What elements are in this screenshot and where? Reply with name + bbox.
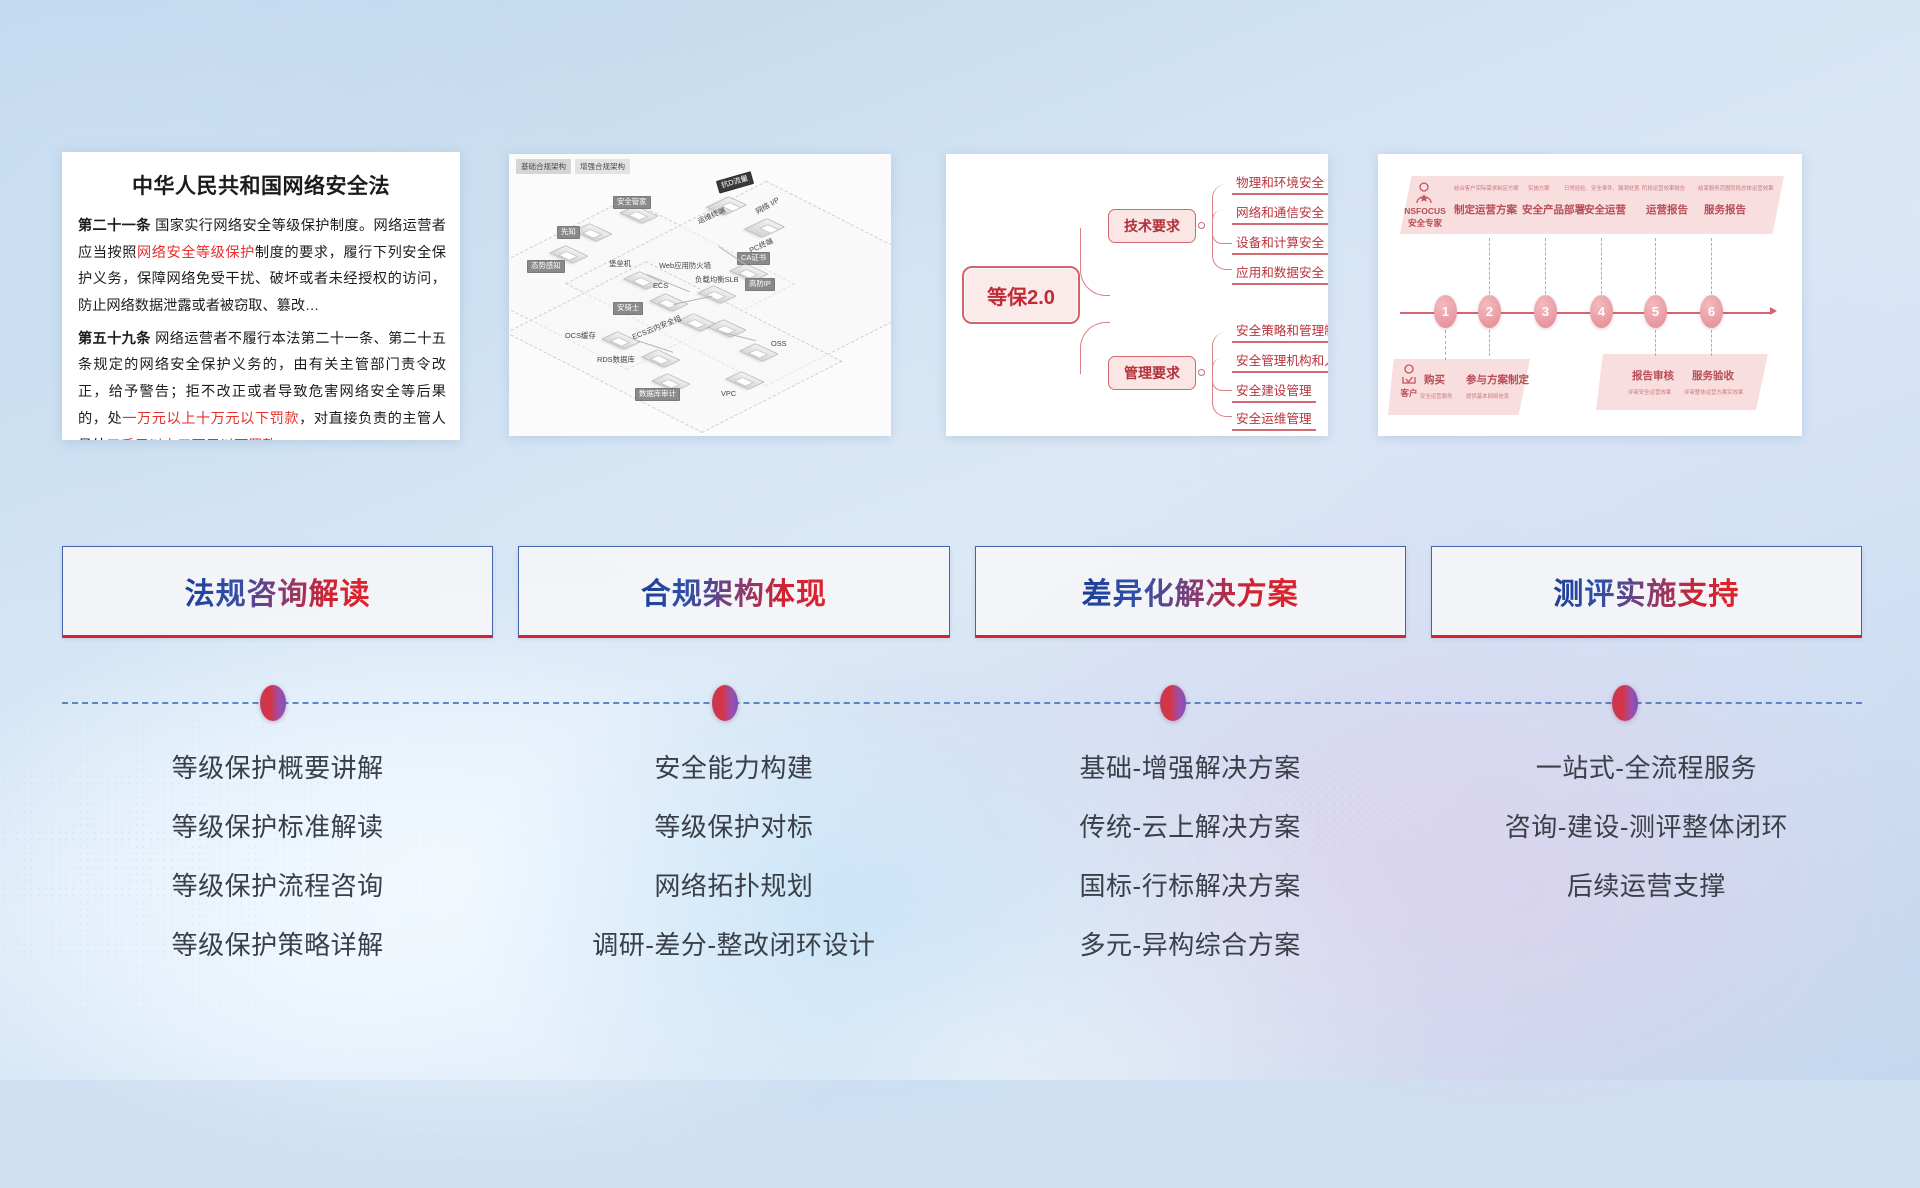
timeline-node-6[interactable]: 6 <box>1700 295 1723 328</box>
customer-label: 客户 <box>1396 388 1422 399</box>
customer-avatar-icon <box>1400 364 1418 386</box>
list-item: 等级保护策略详解 <box>172 925 384 962</box>
timeline-top-sub-2: 实施方案 <box>1528 184 1550 192</box>
service-lists-row: 等级保护概要讲解 等级保护标准解读 等级保护流程咨询 等级保护策略详解 安全能力… <box>62 740 1862 962</box>
architecture-diagram: 基础合规架构 增强合规架构 态势感知 先知 <box>509 154 891 436</box>
mindmap-leaf-device-compute: 设备和计算安全 <box>1232 232 1328 255</box>
mindmap-leaf-security-policy: 安全策略和管理制度 <box>1232 320 1328 343</box>
list-item: 安全能力构建 <box>654 748 813 785</box>
title-box-differentiated-solutions[interactable]: 差异化解决方案 <box>975 546 1406 638</box>
timeline-tick-6-bottom <box>1711 330 1712 356</box>
timeline-top-title-5: 服务报告 <box>1704 202 1746 217</box>
list-column-differentiated-solutions: 基础-增强解决方案 传统-云上解决方案 国标-行标解决方案 多元-异构综合方案 <box>975 740 1406 962</box>
mindmap-leaf-edge-t4 <box>1212 226 1232 270</box>
law-article-21: 第二十一条 国家实行网络安全等级保护制度。网络运营者应当按照网络安全等级保护制度… <box>78 213 446 320</box>
timeline-marker-2[interactable] <box>712 685 738 721</box>
card-dengbao-mindmap[interactable]: 等保2.0 技术要求 管理要求 物理和环境安全 网络和通信安全 设备和计算安全 … <box>946 154 1328 436</box>
mindmap-leaf-build-management: 安全建设管理 <box>1232 380 1316 403</box>
arch-label-database-audit: 数据库审计 <box>635 388 680 401</box>
tab-enhanced-architecture[interactable]: 增强合规架构 <box>575 159 630 174</box>
arch-label-bastion: 堡垒机 <box>609 260 631 269</box>
arch-label-oss: OSS <box>771 340 787 349</box>
timeline-bottom-title-2: 参与方案制定 <box>1466 372 1529 387</box>
provider-brand-role: 安全专家 <box>1404 218 1446 229</box>
timeline-bottom-title-6: 服务验收 <box>1692 368 1734 383</box>
arch-label-ocs-cache: OCS缓存 <box>565 332 596 341</box>
list-column-regulation-consulting: 等级保护概要讲解 等级保护标准解读 等级保护流程咨询 等级保护策略详解 <box>62 740 493 962</box>
timeline-axis-section <box>0 680 1920 730</box>
timeline-bottom-sub-1: 安全运营服务 <box>1420 392 1452 400</box>
section-titles-row: 法规咨询解读 合规架构体现 差异化解决方案 测评实施支持 <box>62 546 1862 638</box>
mindmap-edge-to-management <box>1080 322 1110 374</box>
arch-label-waf: Web应用防火墙 <box>659 262 711 271</box>
arch-label-high-defense-ip: 高防IP <box>745 278 775 291</box>
law-article-21-highlight: 网络安全等级保护 <box>137 245 255 261</box>
list-item: 等级保护概要讲解 <box>172 748 384 785</box>
mindmap-leaf-edge-m4 <box>1212 373 1232 417</box>
illustration-cards-row: 中华人民共和国网络安全法 第二十一条 国家实行网络安全等级保护制度。网络运营者应… <box>62 152 1862 442</box>
arch-label-xianzhi: 先知 <box>557 226 580 239</box>
timeline-dashed-line <box>62 702 1862 704</box>
title-label-assessment-support: 测评实施支持 <box>1553 569 1739 613</box>
list-item: 多元-异构综合方案 <box>1080 925 1301 962</box>
mindmap-leaf-org-personnel: 安全管理机构和人员 <box>1232 350 1328 373</box>
timeline-top-sub-4: 阶段运营效果报告 <box>1642 184 1685 192</box>
title-label-compliance-architecture: 合规架构体现 <box>641 569 827 613</box>
law-body: 第二十一条 国家实行网络安全等级保护制度。网络运营者应当按照网络安全等级保护制度… <box>62 213 460 440</box>
timeline-tick-5-bottom <box>1655 330 1656 356</box>
timeline-bottom-sub-2: 提供基本网络信息 <box>1466 392 1509 400</box>
timeline-node-3[interactable]: 3 <box>1534 295 1557 328</box>
timeline-node-5[interactable]: 5 <box>1644 295 1667 328</box>
list-item: 咨询-建设-测评整体闭环 <box>1505 807 1788 844</box>
list-item: 国标-行标解决方案 <box>1080 866 1301 903</box>
timeline-marker-4[interactable] <box>1612 685 1638 721</box>
title-label-differentiated-solutions: 差异化解决方案 <box>1082 569 1299 613</box>
list-item: 基础-增强解决方案 <box>1080 748 1301 785</box>
list-item: 等级保护标准解读 <box>172 807 384 844</box>
card-service-timeline[interactable]: NSFOCUS 安全专家 客户 结合客户实际需求制定方案 制定运营方案 实施方案… <box>1378 154 1802 436</box>
timeline-top-sub-1: 结合客户实际需求制定方案 <box>1454 184 1519 192</box>
timeline-band-customer-right <box>1596 354 1768 410</box>
title-box-assessment-support[interactable]: 测评实施支持 <box>1431 546 1862 638</box>
provider-brand-name: NSFOCUS <box>1404 206 1446 217</box>
timeline-marker-3[interactable] <box>1160 685 1186 721</box>
mindmap-leaf-physical-env: 物理和环境安全 <box>1232 172 1328 195</box>
mindmap-collapse-dot-management[interactable] <box>1198 369 1205 376</box>
timeline-axis-arrow <box>1770 307 1777 315</box>
list-item: 一站式-全流程服务 <box>1536 748 1757 785</box>
timeline-bottom-sub-5: 评审安全运营效果 <box>1628 388 1671 396</box>
law-title: 中华人民共和国网络安全法 <box>62 170 460 200</box>
law-article-59: 第五十九条 网络运营者不履行本法第二十一条、第二十五条规定的网络安全保护义务的，… <box>78 326 446 440</box>
list-item: 网络拓扑规划 <box>654 866 813 903</box>
timeline-tick-6-top <box>1711 238 1712 294</box>
arch-label-anqishi: 安骑士 <box>613 302 643 315</box>
timeline-top-title-3: 安全运营 <box>1584 202 1626 217</box>
mindmap-leaf-edge-t2 <box>1212 210 1232 226</box>
timeline-bottom-title-1: 购买 <box>1424 372 1445 387</box>
mindmap-root-node: 等保2.0 <box>962 266 1080 324</box>
timeline-top-title-1: 制定运营方案 <box>1454 202 1517 217</box>
architecture-tabs: 基础合规架构 增强合规架构 <box>516 159 630 174</box>
timeline-tick-5-top <box>1655 238 1656 294</box>
timeline-node-1[interactable]: 1 <box>1434 295 1457 328</box>
arch-label-rds-database: RDS数据库 <box>597 356 635 365</box>
mindmap: 等保2.0 技术要求 管理要求 物理和环境安全 网络和通信安全 设备和计算安全 … <box>946 154 1328 436</box>
timeline-top-title-2: 安全产品部署 <box>1522 202 1585 217</box>
law-article-59-label: 第五十九条 <box>78 331 151 347</box>
tab-basic-architecture[interactable]: 基础合规架构 <box>516 159 571 174</box>
mindmap-collapse-dot-technical[interactable] <box>1198 222 1205 229</box>
mindmap-branch-management: 管理要求 <box>1108 356 1196 390</box>
title-label-regulation-consulting: 法规咨询解读 <box>185 569 371 613</box>
law-article-59-highlight-2: 五千元以上五万元以下罚款。 <box>106 438 290 441</box>
law-article-21-label: 第二十一条 <box>78 218 151 234</box>
list-item: 调研-差分-整改闭环设计 <box>592 925 875 962</box>
title-box-regulation-consulting[interactable]: 法规咨询解读 <box>62 546 493 638</box>
timeline-tick-4-top <box>1601 238 1602 294</box>
timeline-marker-1[interactable] <box>260 685 286 721</box>
timeline-top-sub-5: 结束服务范围阶段总体运营效果 <box>1698 184 1773 192</box>
list-item: 等级保护流程咨询 <box>172 866 384 903</box>
timeline-tick-2-top <box>1489 238 1490 294</box>
timeline-tick-3-top <box>1545 238 1546 294</box>
list-item: 等级保护对标 <box>654 807 813 844</box>
expert-avatar-icon <box>1414 182 1434 204</box>
card-compliance-architecture[interactable]: 基础合规架构 增强合规架构 态势感知 先知 <box>509 154 891 436</box>
mindmap-branch-technical: 技术要求 <box>1108 209 1196 243</box>
timeline-node-2[interactable]: 2 <box>1478 295 1501 328</box>
timeline-tick-2-bottom <box>1489 330 1490 356</box>
timeline-tick-1-bottom <box>1445 330 1446 360</box>
arch-label-ecs: ECS <box>653 282 668 291</box>
mindmap-leaf-network-comm: 网络和通信安全 <box>1232 202 1328 225</box>
timeline-node-4[interactable]: 4 <box>1590 295 1613 328</box>
arch-label-slb: 负载均衡SLB <box>695 276 739 285</box>
arch-label-situational-awareness: 态势感知 <box>527 260 565 273</box>
list-column-compliance-architecture: 安全能力构建 等级保护对标 网络拓扑规划 调研-差分-整改闭环设计 <box>518 740 949 962</box>
service-timeline: NSFOCUS 安全专家 客户 结合客户实际需求制定方案 制定运营方案 实施方案… <box>1378 154 1802 436</box>
mindmap-leaf-edge-m2 <box>1212 358 1232 374</box>
mindmap-edge-to-technical <box>1080 228 1110 296</box>
timeline-top-title-4: 运营报告 <box>1646 202 1688 217</box>
mindmap-leaf-app-data: 应用和数据安全 <box>1232 262 1328 285</box>
arch-label-security-butler: 安全管家 <box>613 196 651 209</box>
list-column-assessment-support: 一站式-全流程服务 咨询-建设-测评整体闭环 后续运营支撑 <box>1431 740 1862 962</box>
list-item: 传统-云上解决方案 <box>1080 807 1301 844</box>
title-box-compliance-architecture[interactable]: 合规架构体现 <box>518 546 949 638</box>
list-item: 后续运营支撑 <box>1567 866 1726 903</box>
timeline-top-sub-3: 日常巡检、安全事件、漏洞处置 <box>1564 184 1639 192</box>
mindmap-leaf-ops-management: 安全运维管理 <box>1232 408 1316 431</box>
timeline-bottom-sub-6: 评审整体运营方案实效果 <box>1684 388 1743 396</box>
law-article-59-highlight-1: 一万元以上十万元以下罚款 <box>122 411 299 427</box>
card-cybersecurity-law[interactable]: 中华人民共和国网络安全法 第二十一条 国家实行网络安全等级保护制度。网络运营者应… <box>62 152 460 440</box>
timeline-bottom-title-5: 报告审核 <box>1632 368 1674 383</box>
arch-label-vpc: VPC <box>721 390 736 399</box>
